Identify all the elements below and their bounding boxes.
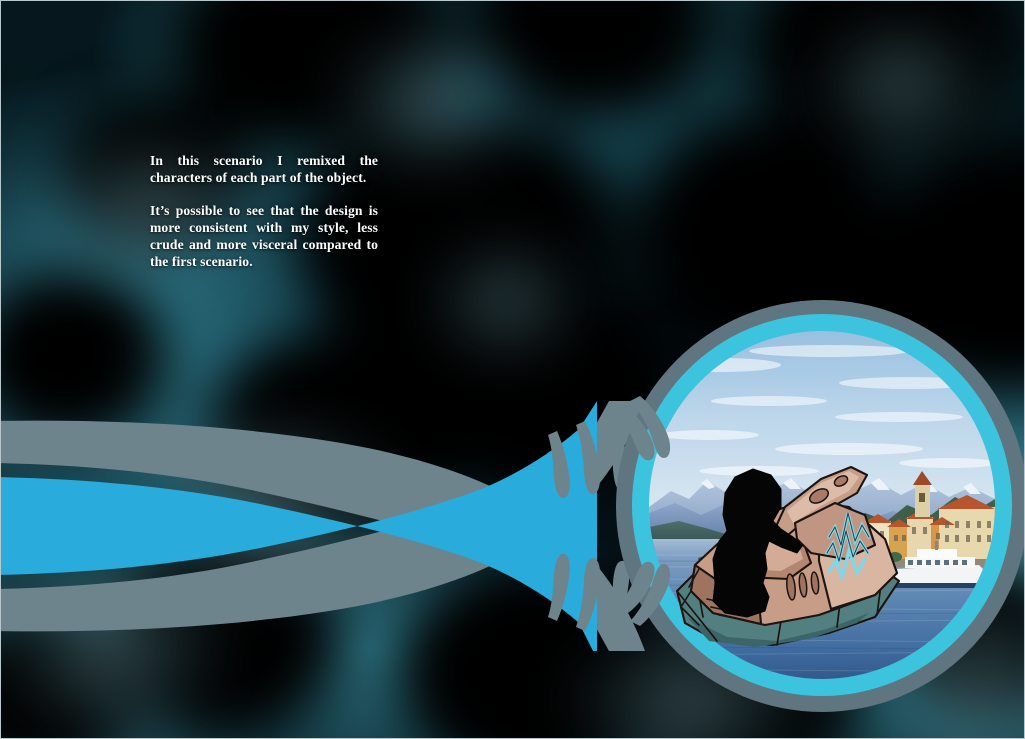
lake-como-bellagio-photo — [649, 331, 995, 679]
paragraph-1: In this scenario I remixed the character… — [150, 153, 378, 186]
background-wisp — [811, 31, 991, 141]
scenario-description: In this scenario I remixed the character… — [150, 153, 378, 270]
circular-aperture — [616, 300, 1025, 712]
background-cell — [169, 0, 469, 151]
background-cell — [746, 0, 1025, 161]
background-wisp — [431, 251, 581, 351]
background-wisp — [331, 41, 531, 161]
flared-stem — [0, 401, 677, 651]
paragraph-2: It’s possible to see that the design is … — [150, 203, 378, 270]
photo-distant-boat — [698, 557, 712, 562]
scenario-board-page: In this scenario I remixed the character… — [0, 0, 1025, 739]
background-cell — [471, 0, 721, 121]
